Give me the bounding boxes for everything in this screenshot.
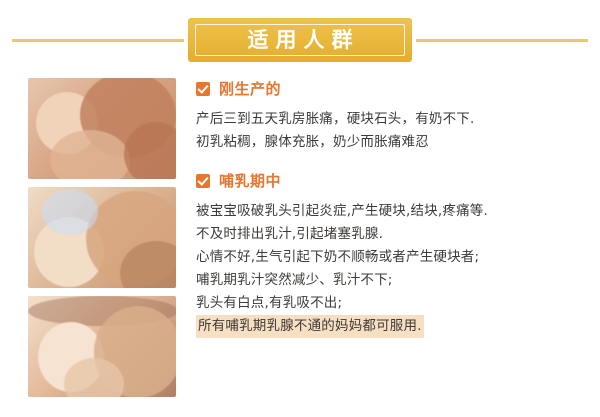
section-title: 刚生产的 xyxy=(219,80,281,98)
section-title: 哺乳期中 xyxy=(219,172,281,190)
photo-column xyxy=(28,78,176,405)
content-column: 刚生产的 产后三到五天乳房胀痛，硬块石头，有奶不下. 初乳粘稠，腺体充胀，奶少而… xyxy=(196,78,584,340)
body-line: 哺乳期乳汁突然减少、乳汁不下; xyxy=(196,269,584,292)
photo-mother-and-child xyxy=(28,296,176,397)
section-newly-delivered: 刚生产的 产后三到五天乳房胀痛，硬块石头，有奶不下. 初乳粘稠，腺体充胀，奶少而… xyxy=(196,78,584,154)
body-line-highlighted: 所有哺乳期乳腺不通的妈妈都可服用. xyxy=(196,315,424,338)
body-line: 产后三到五天乳房胀痛，硬块石头，有奶不下. xyxy=(196,108,584,131)
banner-plate: 适用人群 xyxy=(188,18,412,62)
orange-check-icon xyxy=(196,174,210,188)
body-line: 不及时排出乳汁,引起堵塞乳腺. xyxy=(196,223,584,246)
page-root: 适用人群 刚生产的 产后三 xyxy=(0,0,600,417)
section-spacer xyxy=(196,156,584,170)
page-title: 适用人群 xyxy=(188,18,412,62)
body-line: 乳头有白点,有乳吸不出; xyxy=(196,292,584,315)
header-banner: 适用人群 xyxy=(0,18,600,62)
photo-mother-breastfeeding xyxy=(28,187,176,288)
body-line: 初乳粘稠，腺体充胀，奶少而胀痛难忍 xyxy=(196,131,584,154)
section-during-lactation: 哺乳期中 被宝宝吸破乳头引起炎症,产生硬块,结块,疼痛等. 不及时排出乳汁,引起… xyxy=(196,170,584,338)
photo-newborn-feeding xyxy=(28,78,176,179)
banner-rule-right xyxy=(416,39,588,42)
orange-check-icon xyxy=(196,82,210,96)
banner-rule-left xyxy=(12,39,184,42)
body-line: 被宝宝吸破乳头引起炎症,产生硬块,结块,疼痛等. xyxy=(196,200,584,223)
section-header: 刚生产的 xyxy=(196,78,584,100)
section-header: 哺乳期中 xyxy=(196,170,584,192)
body-line: 心情不好,生气引起下奶不顺畅或者产生硬块者; xyxy=(196,246,584,269)
photo-shape xyxy=(42,189,98,235)
